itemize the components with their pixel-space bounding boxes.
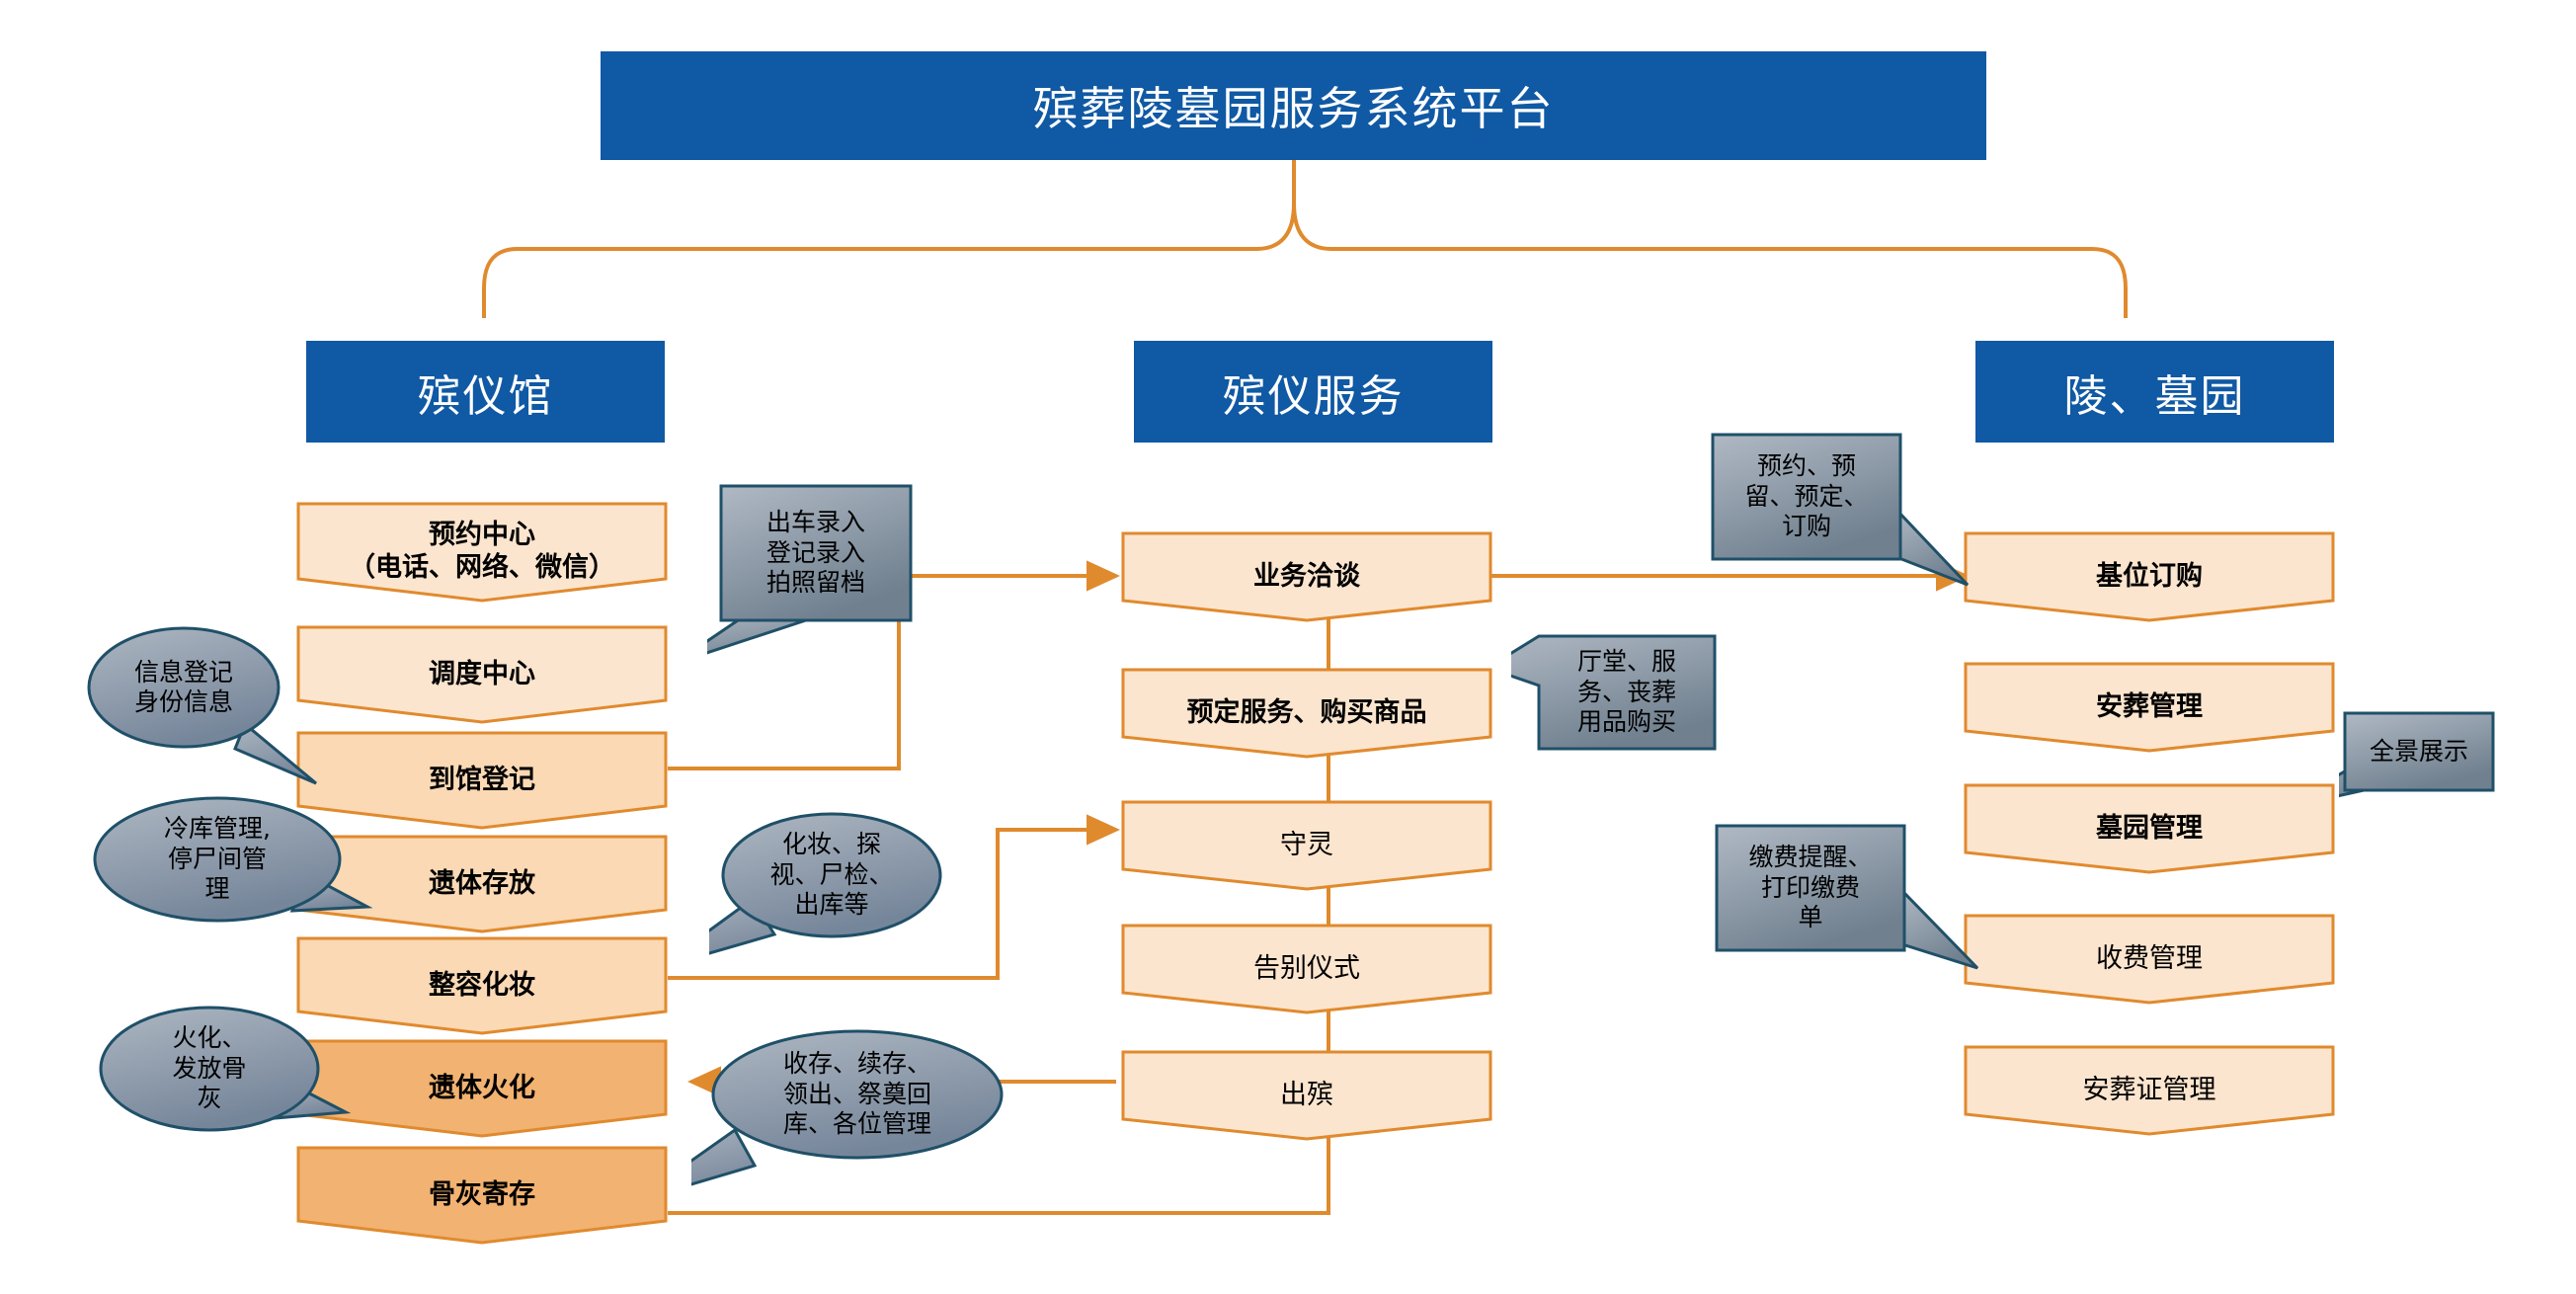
callout-dispatch-entry: 出车录入登记录入拍照留档 (707, 474, 940, 667)
process-label: 预定服务、购买商品 (1187, 697, 1427, 730)
process-label: 安葬证管理 (2083, 1075, 2216, 1107)
process-label: 业务洽谈 (1253, 561, 1360, 594)
callout-cremation-ashes: 火化、发放骨灰 (95, 1000, 391, 1189)
process-box-business-consultation[interactable]: 业务洽谈 (1121, 531, 1492, 622)
process-label: 出殡 (1280, 1080, 1333, 1112)
callout-text: 冷库管理,停尸间管理 (105, 798, 330, 921)
page-title: 殡葬陵墓园服务系统平台 (601, 51, 1986, 160)
callout-booking-reserve: 预约、预留、预定、订购 (1709, 427, 2005, 605)
callout-payment-reminder: 缴费提醒、打印缴费单 (1709, 818, 1995, 996)
callout-cold-storage: 冷库管理,停尸间管理 (89, 790, 405, 993)
process-box-reserve-service-purchase[interactable]: 预定服务、购买商品 (1121, 668, 1492, 759)
process-box-grave-ordering[interactable]: 基位订购 (1964, 531, 2335, 622)
process-label: 预约中心（电话、网络、微信） (349, 520, 615, 585)
process-box-farewell-ceremony[interactable]: 告别仪式 (1121, 924, 1492, 1014)
callout-ashes-operations: 收存、续存、领出、祭奠回库、各位管理 (691, 1008, 1007, 1220)
callout-hall-goods: 厅堂、服务、丧葬用品购买 (1511, 622, 1758, 770)
callout-text: 厅堂、服务、丧葬用品购买 (1539, 636, 1715, 749)
callout-panorama: 全景展示 (2339, 703, 2536, 842)
callout-text: 信息登记身份信息 (89, 628, 279, 747)
column-header-funeral-home: 殡仪馆 (306, 341, 665, 443)
process-box-funeral-procession[interactable]: 出殡 (1121, 1050, 1492, 1141)
callout-info-registration: 信息登记身份信息 (87, 610, 373, 798)
process-label: 安葬管理 (2096, 691, 2203, 724)
callout-text: 缴费提醒、打印缴费单 (1717, 826, 1904, 950)
process-label: 收费管理 (2096, 943, 2203, 976)
process-label: 整容化妆 (429, 970, 535, 1003)
callout-makeup-autopsy: 化妆、探视、尸检、出库等 (709, 782, 942, 995)
process-box-burial-certificate-management[interactable]: 安葬证管理 (1964, 1045, 2335, 1136)
diagram-canvas: 殡葬陵墓园服务系统平台 殡仪馆 殡仪服务 陵、墓园 预约中心（电话、网络、微信）… (0, 0, 2576, 1294)
process-label: 遗体存放 (429, 868, 535, 901)
process-label: 遗体火化 (429, 1073, 535, 1105)
process-label: 守灵 (1280, 830, 1333, 862)
column-header-funeral-service: 殡仪服务 (1134, 341, 1492, 443)
process-box-fee-management[interactable]: 收费管理 (1964, 914, 2335, 1005)
process-box-burial-management[interactable]: 安葬管理 (1964, 662, 2335, 753)
process-box-appointment-center[interactable]: 预约中心（电话、网络、微信） (296, 502, 668, 603)
callout-text: 化妆、探视、尸检、出库等 (729, 814, 934, 936)
callout-text: 收存、续存、领出、祭奠回库、各位管理 (719, 1031, 996, 1158)
callout-text: 火化、发放骨灰 (105, 1008, 314, 1130)
process-label: 墓园管理 (2096, 813, 2203, 846)
process-label: 调度中心 (429, 659, 535, 691)
callout-text: 全景展示 (2345, 713, 2493, 790)
process-label: 骨灰寄存 (429, 1179, 535, 1212)
callout-text: 预约、预留、预定、订购 (1713, 435, 1900, 559)
process-box-cemetery-management[interactable]: 墓园管理 (1964, 783, 2335, 874)
column-header-cemetery: 陵、墓园 (1975, 341, 2334, 443)
process-box-vigil[interactable]: 守灵 (1121, 800, 1492, 891)
process-label: 到馆登记 (429, 765, 535, 797)
process-label: 基位订购 (2096, 561, 2203, 594)
callout-text: 出车录入登记录入拍照留档 (721, 486, 911, 620)
process-label: 告别仪式 (1253, 953, 1360, 986)
